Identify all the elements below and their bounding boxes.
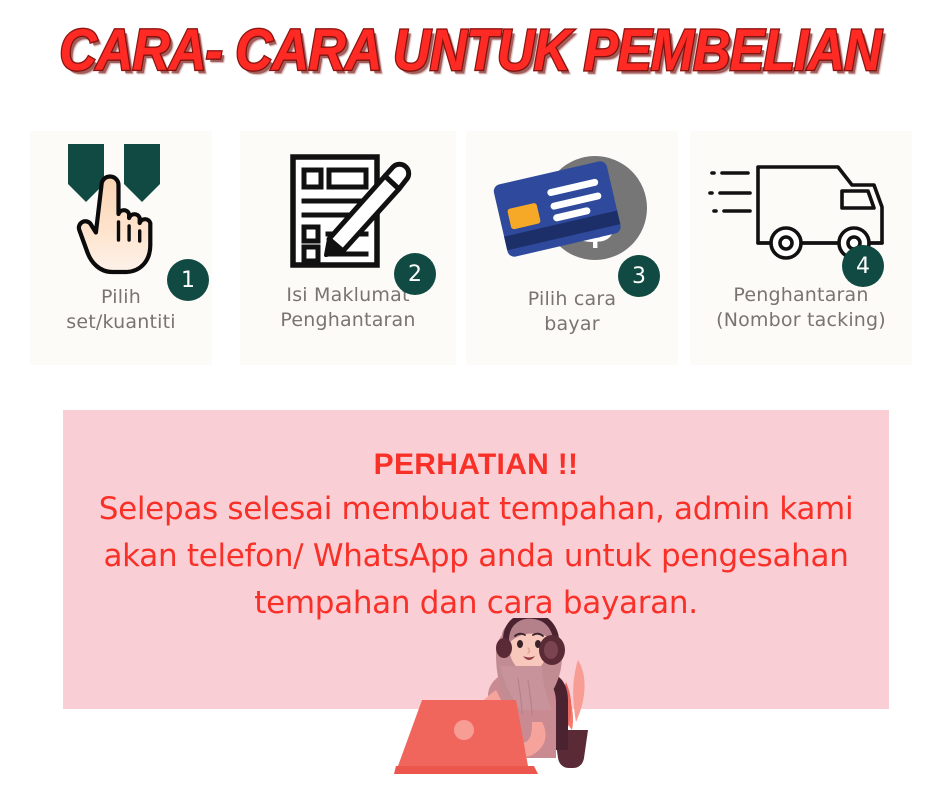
step-card-3: $ Pilih cara bayar 3 [466, 131, 678, 365]
step-card-4: Penghantaran (Nombor tacking) 4 [690, 131, 912, 365]
notice-body-text: Selepas selesai membuat tempahan, admin … [63, 482, 889, 627]
notice-heading: PERHATIAN !! [63, 410, 889, 482]
step-4-label: Penghantaran (Nombor tacking) [690, 283, 912, 333]
step-4-badge: 4 [842, 245, 884, 287]
steps-row: Pilih set/kuantiti 1 [0, 131, 940, 365]
motion-lines [710, 173, 750, 211]
step-card-2: Isi Maklumat Penghantaran 2 [240, 131, 456, 365]
page-title: CARA- CARA UNTUK PEMBELIAN [59, 17, 880, 84]
step-card-1: Pilih set/kuantiti 1 [30, 131, 212, 365]
banner-shape-right [124, 144, 160, 202]
laptop-shape [394, 700, 538, 774]
poster-title-banner: CARA- CARA UNTUK PEMBELIAN [0, 12, 940, 90]
woman-with-headset-at-laptop-illustration [392, 618, 622, 788]
step-3-badge: 3 [618, 255, 660, 297]
step-2-badge: 2 [394, 253, 436, 295]
step-1-badge: 1 [167, 259, 209, 301]
